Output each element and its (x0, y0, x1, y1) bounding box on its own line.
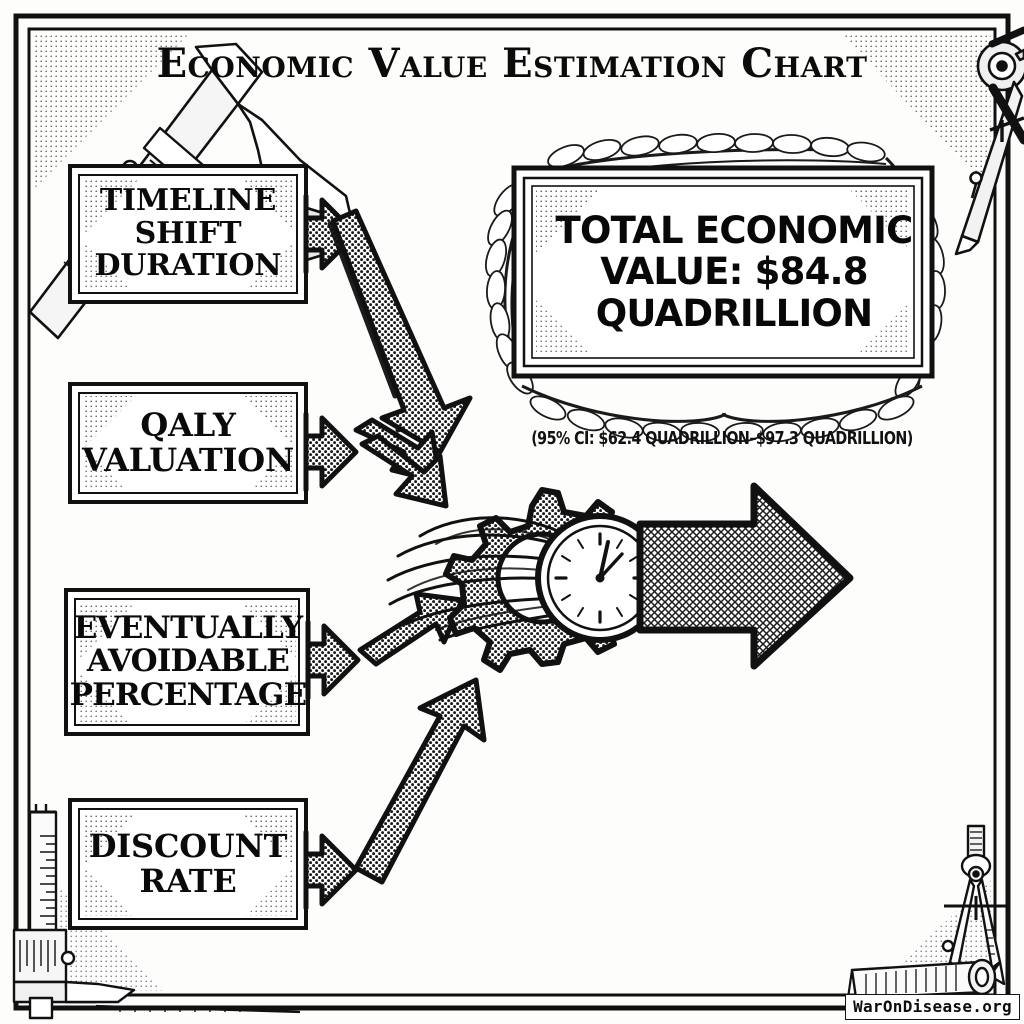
input-box-label: TIMELINE SHIFT DURATION (94, 185, 281, 282)
input-box-label: DISCOUNT RATE (89, 829, 288, 898)
input-label-line: QALY (82, 408, 294, 443)
text-layer: Economic Value Estimation Chart TIMELINE… (0, 0, 1024, 1024)
result-line: VALUE: $84.8 (556, 251, 913, 292)
result-line: TOTAL ECONOMIC (556, 210, 913, 251)
input-box-label: QALY VALUATION (82, 408, 294, 477)
input-label-line: RATE (89, 864, 288, 899)
result-line: QUADRILLION (556, 293, 913, 334)
input-label-line: TIMELINE (94, 185, 281, 217)
result-headline: TOTAL ECONOMIC VALUE: $84.8 QUADRILLION (536, 196, 932, 348)
watermark: WarOnDisease.org (845, 994, 1020, 1020)
input-box-qaly-valuation[interactable]: QALY VALUATION (72, 386, 304, 500)
input-box-eventually-avoidable-percentage[interactable]: EVENTUALLY AVOIDABLE PERCENTAGE (68, 592, 308, 732)
input-box-label: EVENTUALLY AVOIDABLE PERCENTAGE (70, 612, 307, 712)
input-label-line: PERCENTAGE (70, 679, 307, 712)
input-label-line: EVENTUALLY (70, 612, 307, 645)
input-box-discount-rate[interactable]: DISCOUNT RATE (72, 802, 304, 926)
confidence-interval-label: (95% CI: $62.4 QUADRILLION–$97.3 QUADRIL… (493, 428, 951, 449)
page-title: Economic Value Estimation Chart (0, 40, 1024, 87)
input-label-line: SHIFT (94, 218, 281, 250)
input-label-line: VALUATION (82, 443, 294, 478)
input-label-line: DISCOUNT (89, 829, 288, 864)
result-headline-lines: TOTAL ECONOMIC VALUE: $84.8 QUADRILLION (556, 210, 913, 334)
input-box-timeline-shift-duration[interactable]: TIMELINE SHIFT DURATION (72, 168, 304, 300)
input-label-line: AVOIDABLE (70, 645, 307, 678)
chart-canvas: Economic Value Estimation Chart TIMELINE… (0, 0, 1024, 1024)
input-label-line: DURATION (94, 250, 281, 282)
